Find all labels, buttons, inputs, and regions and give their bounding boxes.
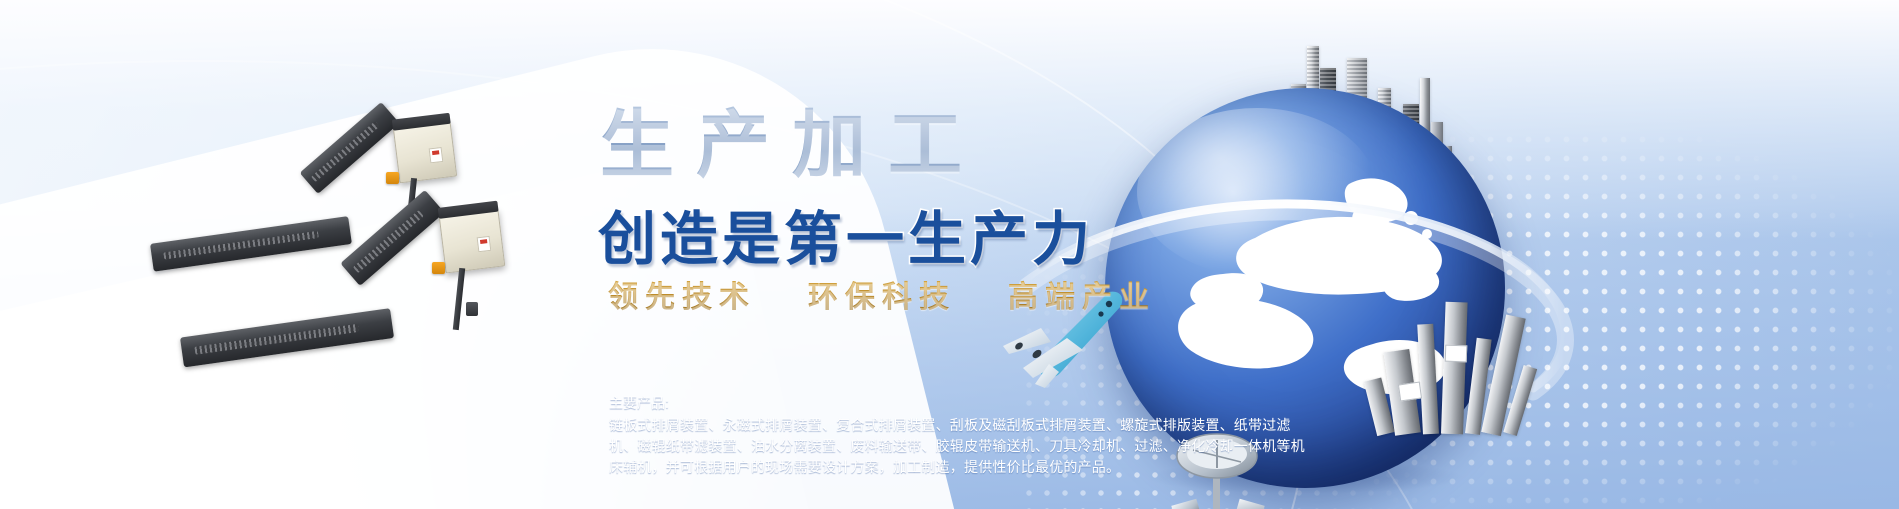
tagline-row: 领先技术 环保科技 高端产业: [608, 272, 1156, 316]
tagline-item-3: 高端产业: [1008, 272, 1156, 316]
tagline-item-1: 领先技术: [608, 272, 756, 316]
banner-text-block: 生产加工 创造是第一生产力 领先技术 环保科技 高端产业 主要产品: 链板式排屑…: [0, 0, 1899, 509]
product-description-body: 链板式排屑装置、永磁式排屑装置、复合式排屑装置、刮板及磁刮板式排屑装置、螺旋式排…: [609, 415, 1309, 478]
product-description: 主要产品: 链板式排屑装置、永磁式排屑装置、复合式排屑装置、刮板及磁刮板式排屑装…: [609, 393, 1309, 478]
promotional-banner: 生产加工 创造是第一生产力 领先技术 环保科技 高端产业 主要产品: 链板式排屑…: [0, 0, 1899, 509]
subtitle: 创造是第一生产力: [598, 192, 1094, 276]
product-description-label: 主要产品:: [609, 393, 1309, 414]
tagline-item-2: 环保科技: [808, 272, 956, 316]
page-title: 生产加工: [600, 85, 984, 192]
